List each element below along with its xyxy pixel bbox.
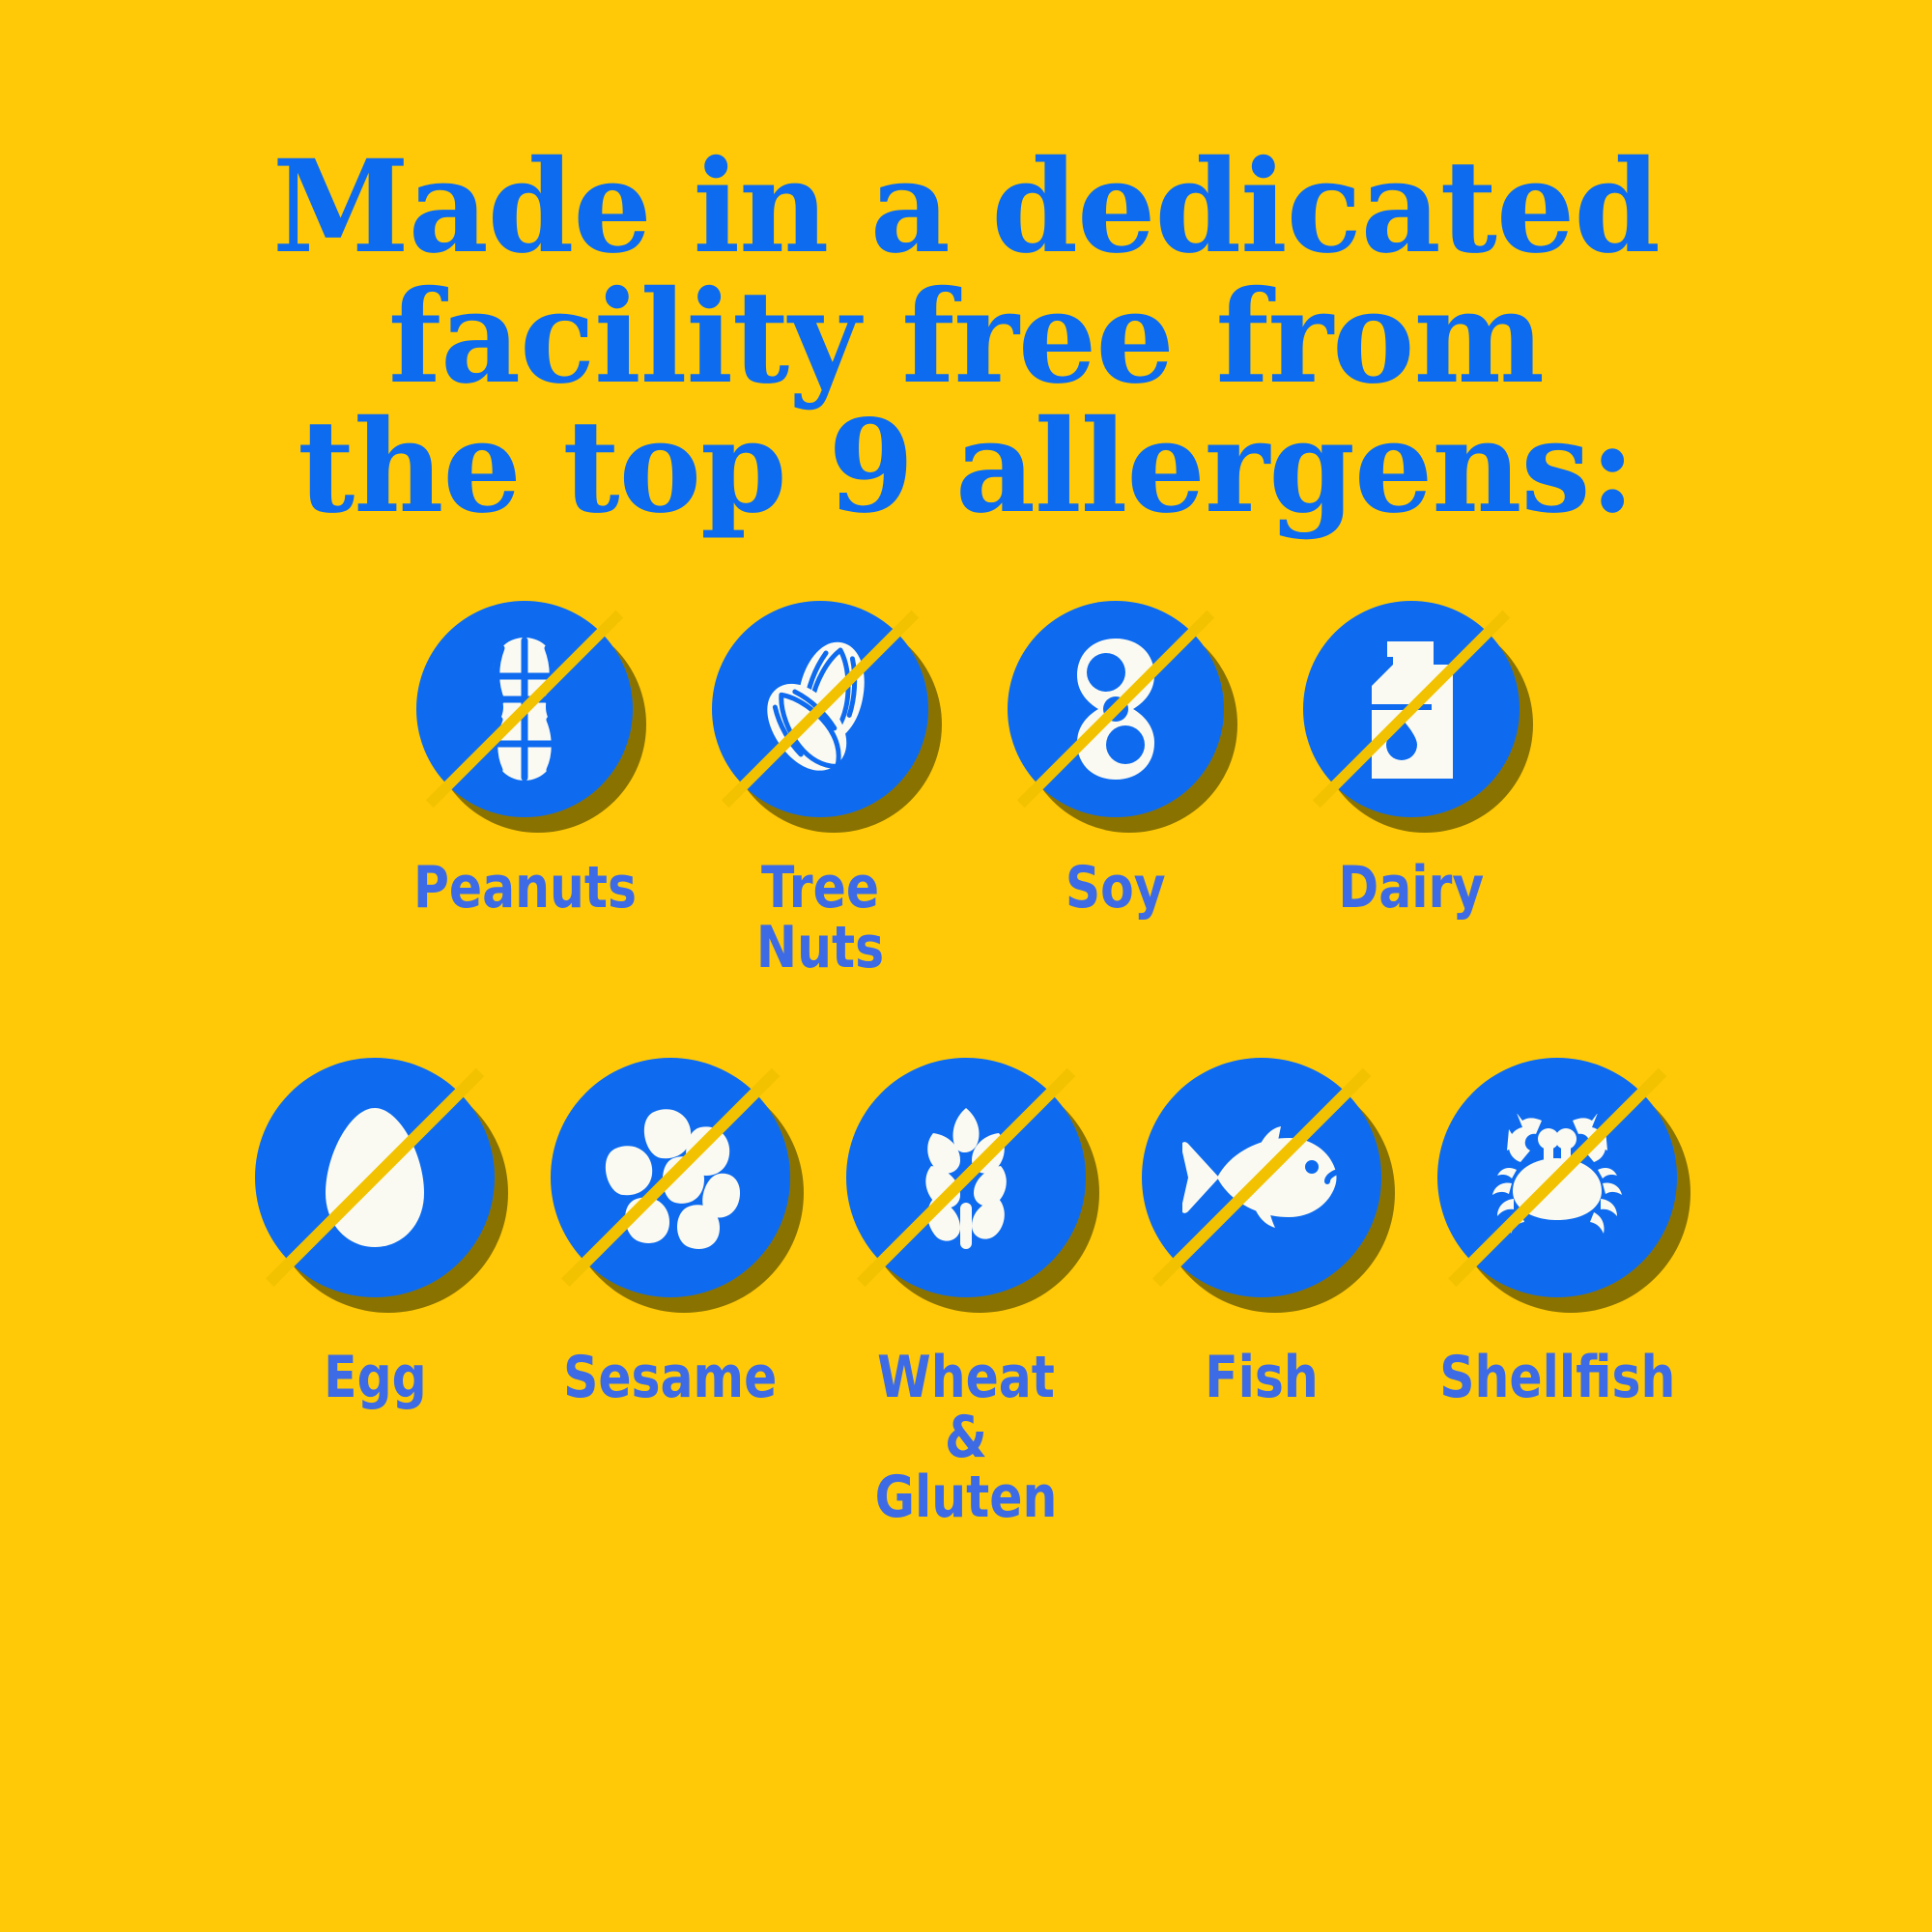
allergen-row-1: Peanuts [407, 601, 1529, 979]
allergen-label: Egg [324, 1348, 427, 1407]
allergen-item-peanuts: Peanuts [407, 601, 642, 918]
wheat-gluten-badge [846, 1058, 1086, 1297]
peanuts-badge [416, 601, 633, 817]
allergen-grid: Peanuts [0, 601, 1932, 1528]
wheat-stalk-icon [846, 1058, 1086, 1297]
milk-carton-icon [1303, 601, 1520, 817]
allergen-label: Dairy [1339, 858, 1485, 918]
soybean-pod-icon [1008, 601, 1224, 817]
allergen-item-shellfish: Shellfish [1428, 1058, 1687, 1407]
allergen-item-soy: Soy [998, 601, 1234, 918]
allergen-label: Soy [1065, 858, 1166, 918]
peanut-icon [416, 601, 633, 817]
allergen-label: Sesame [563, 1348, 777, 1407]
page-title-line-1: Made in a dedicated [170, 143, 1763, 273]
allergen-label: Shellfish [1439, 1348, 1675, 1407]
allergen-label: Fish [1205, 1348, 1319, 1407]
page-title-line-2: facility free from [170, 273, 1763, 404]
allergen-label: Peanuts [413, 858, 637, 918]
allergen-item-fish: Fish [1132, 1058, 1391, 1407]
sesame-seeds-icon [551, 1058, 790, 1297]
allergen-poster: Made in a dedicated facility free from t… [0, 0, 1932, 1932]
egg-badge [255, 1058, 495, 1297]
allergen-label: Tree Nuts [722, 858, 920, 979]
page-title: Made in a dedicated facility free from t… [170, 143, 1763, 533]
allergen-item-sesame: Sesame [541, 1058, 800, 1407]
allergen-row-2: Egg [245, 1058, 1687, 1528]
allergen-item-dairy: Dairy [1293, 601, 1529, 918]
fish-badge [1142, 1058, 1381, 1297]
sesame-badge [551, 1058, 790, 1297]
shellfish-badge [1437, 1058, 1677, 1297]
allergen-item-egg: Egg [245, 1058, 504, 1407]
soy-badge [1008, 601, 1224, 817]
page-title-line-3: the top 9 allergens: [170, 403, 1763, 533]
allergen-item-tree-nuts: Tree Nuts [702, 601, 938, 979]
dairy-badge [1303, 601, 1520, 817]
allergen-label: Wheat & Gluten [857, 1348, 1074, 1528]
fish-icon [1142, 1058, 1381, 1297]
egg-icon [255, 1058, 495, 1297]
almond-icon [712, 601, 928, 817]
crab-icon [1437, 1058, 1677, 1297]
tree-nuts-badge [712, 601, 928, 817]
allergen-item-wheat-gluten: Wheat & Gluten [837, 1058, 1095, 1528]
